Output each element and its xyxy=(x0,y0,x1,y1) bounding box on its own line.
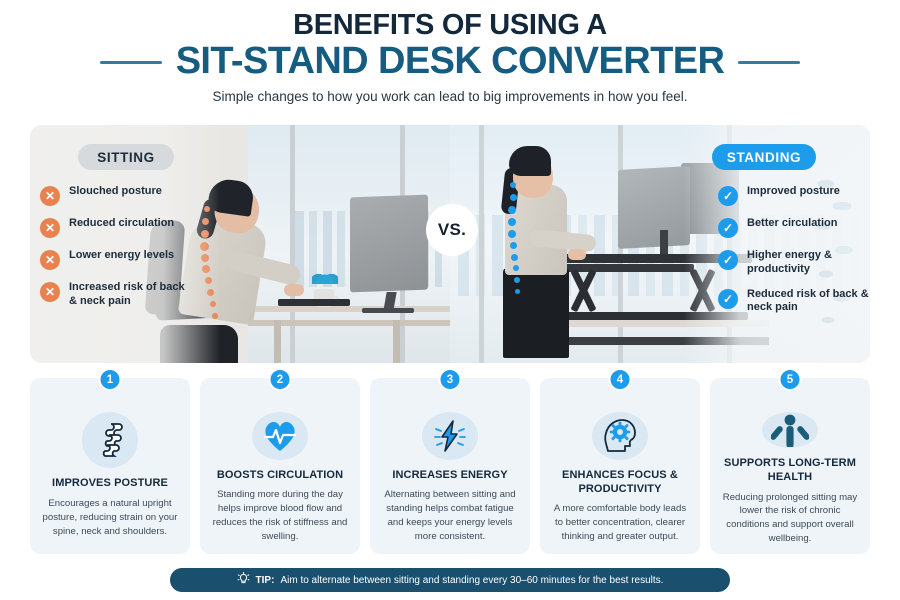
keyboard xyxy=(278,299,350,306)
person-hair xyxy=(509,146,551,176)
lightning-bolt-icon xyxy=(422,412,478,460)
list-item-label: Slouched posture xyxy=(69,185,162,199)
benefit-card-4: 4 xyxy=(540,378,700,554)
list-item: ✓ Reduced risk of back & neck pain xyxy=(718,288,870,316)
card-body: Alternating between sitting and standing… xyxy=(380,488,520,544)
list-item: ✕ Reduced circulation xyxy=(40,217,190,238)
standing-benefit-list: ✓ Improved posture ✓ Better circulation … xyxy=(718,185,870,326)
header: BENEFITS OF USING A SIT-STAND DESK CONVE… xyxy=(0,0,900,104)
benefit-card-5: 5 SUPPORTS LONG-TERM HEALTH Reducing pro… xyxy=(710,378,870,554)
cross-icon: ✕ xyxy=(40,218,60,238)
page-title-line2: SIT-STAND DESK CONVERTER xyxy=(176,42,725,82)
desk-leg xyxy=(274,320,281,363)
list-item: ✓ Improved posture xyxy=(718,185,870,206)
tip-text: Aim to alternate between sitting and sta… xyxy=(280,575,663,586)
card-number-badge: 4 xyxy=(609,368,632,391)
cross-icon: ✕ xyxy=(40,250,60,270)
card-body: Encourages a natural upright posture, re… xyxy=(40,497,180,539)
card-title: IMPROVES POSTURE xyxy=(52,477,168,491)
list-item: ✕ Lower energy levels xyxy=(40,249,190,270)
list-item: ✓ Higher energy & productivity xyxy=(718,249,870,277)
card-title: INCREASES ENERGY xyxy=(392,469,507,483)
card-number-badge: 3 xyxy=(439,368,462,391)
card-number-badge: 2 xyxy=(269,368,292,391)
card-title: BOOSTS CIRCULATION xyxy=(217,469,343,483)
list-item-label: Reduced circulation xyxy=(69,217,174,231)
tip-label: TIP: xyxy=(256,575,275,586)
desk-surface xyxy=(248,306,450,312)
desk-leg xyxy=(393,320,400,363)
standing-pill-label: STANDING xyxy=(712,144,816,170)
monitor xyxy=(350,195,428,293)
sitting-drawback-list: ✕ Slouched posture ✕ Reduced circulation… xyxy=(40,185,190,320)
card-number-badge: 5 xyxy=(779,368,802,391)
benefit-card-3: 3 INCREASES ENERGY Alternating between s… xyxy=(370,378,530,554)
card-body: A more comfortable body leads to better … xyxy=(550,502,690,544)
cross-icon: ✕ xyxy=(40,186,60,206)
card-title: ENHANCES FOCUS & PRODUCTIVITY xyxy=(550,469,690,497)
versus-badge: VS. xyxy=(426,204,478,256)
tip-bar: TIP: Aim to alternate between sitting an… xyxy=(170,568,730,592)
monitor-base xyxy=(362,308,414,313)
page-subtitle: Simple changes to how you work can lead … xyxy=(0,89,900,104)
monitor xyxy=(618,166,690,248)
list-item-label: Reduced risk of back & neck pain xyxy=(747,288,870,316)
window-mullion xyxy=(290,125,295,363)
spine-icon xyxy=(82,412,138,468)
page-title-row: SIT-STAND DESK CONVERTER xyxy=(0,42,900,82)
infographic-page: BENEFITS OF USING A SIT-STAND DESK CONVE… xyxy=(0,0,900,600)
list-item-label: Increased risk of back & neck pain xyxy=(69,281,190,309)
lightbulb-icon xyxy=(237,572,250,589)
list-item-label: Higher energy & productivity xyxy=(747,249,870,277)
person-hand xyxy=(284,284,304,296)
card-body: Reducing prolonged sitting may lower the… xyxy=(720,491,860,547)
list-item-label: Improved posture xyxy=(747,185,840,199)
benefit-card-1: 1 IMPROVES POSTURE Encourages a natural … xyxy=(30,378,190,554)
check-icon: ✓ xyxy=(718,218,738,238)
list-item-label: Better circulation xyxy=(747,217,837,231)
title-rule-left xyxy=(100,61,162,64)
card-body: Standing more during the day helps impro… xyxy=(210,488,350,544)
cross-icon: ✕ xyxy=(40,282,60,302)
window-mullion xyxy=(479,125,484,363)
person-arms-up-icon xyxy=(762,412,818,448)
benefit-cards: 1 IMPROVES POSTURE Encourages a natural … xyxy=(30,378,870,554)
check-icon: ✓ xyxy=(718,250,738,270)
title-rule-right xyxy=(738,61,800,64)
list-item: ✓ Better circulation xyxy=(718,217,870,238)
card-title: SUPPORTS LONG-TERM HEALTH xyxy=(720,457,860,485)
page-title-line1: BENEFITS OF USING A xyxy=(0,10,900,40)
sitting-pill-label: SITTING xyxy=(78,144,174,170)
list-item: ✕ Slouched posture xyxy=(40,185,190,206)
heart-pulse-icon xyxy=(252,412,308,460)
check-icon: ✓ xyxy=(718,186,738,206)
list-item: ✕ Increased risk of back & neck pain xyxy=(40,281,190,309)
list-item-label: Lower energy levels xyxy=(69,249,174,263)
check-icon: ✓ xyxy=(718,289,738,309)
benefit-card-2: 2 BOOSTS CIRCULATION Standing more durin… xyxy=(200,378,360,554)
person-lower-body xyxy=(503,268,569,358)
person-hand xyxy=(568,249,586,260)
card-number-badge: 1 xyxy=(99,368,122,391)
head-gear-icon xyxy=(592,412,648,460)
desk-plant xyxy=(312,268,338,284)
